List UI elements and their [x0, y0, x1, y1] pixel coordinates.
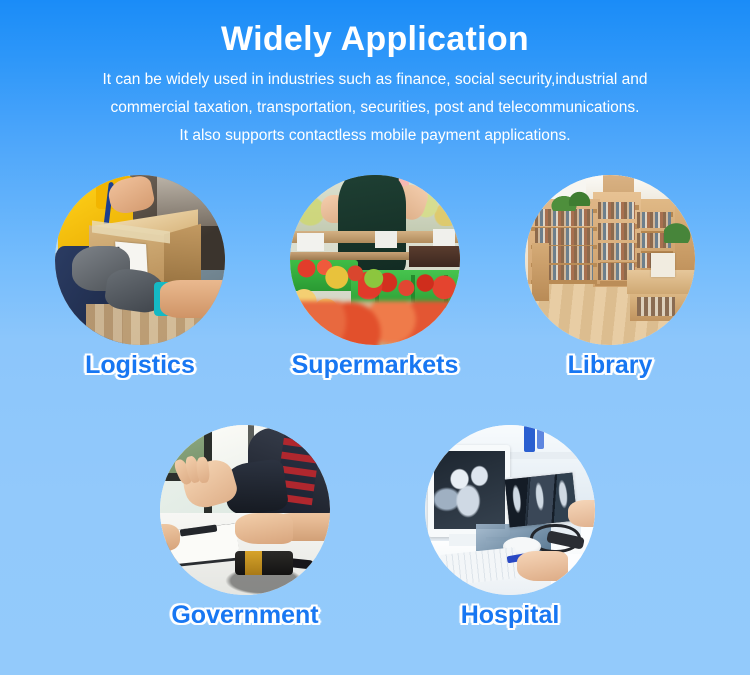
warehouse-worker-scanning-parcel-illustration	[55, 175, 225, 345]
official-at-desk-with-gavel-illustration	[160, 425, 330, 595]
doctor-reviewing-xray-films-illustration	[425, 425, 595, 595]
hospital-image	[425, 425, 595, 595]
logistics-image	[55, 175, 225, 345]
library-image	[525, 175, 695, 345]
caption-hospital: Hospital	[380, 601, 640, 630]
caption-supermarkets: Supermarkets	[245, 351, 505, 380]
application-card-logistics[interactable]: Logistics	[55, 175, 225, 345]
caption-government: Government	[115, 601, 375, 630]
supermarkets-image	[290, 175, 460, 345]
caption-logistics: Logistics	[10, 351, 270, 380]
application-card-supermarkets[interactable]: Supermarkets	[290, 175, 460, 345]
application-card-library[interactable]: Library	[525, 175, 695, 345]
government-image	[160, 425, 330, 595]
grocery-clerk-stocking-produce-illustration	[290, 175, 460, 345]
application-card-government[interactable]: Government	[160, 425, 330, 595]
wooden-bookshelves-interior-illustration	[525, 175, 695, 345]
application-card-hospital[interactable]: Hospital	[425, 425, 595, 595]
application-grid: Logistics Supermarkets	[0, 0, 750, 675]
caption-library: Library	[480, 351, 740, 380]
